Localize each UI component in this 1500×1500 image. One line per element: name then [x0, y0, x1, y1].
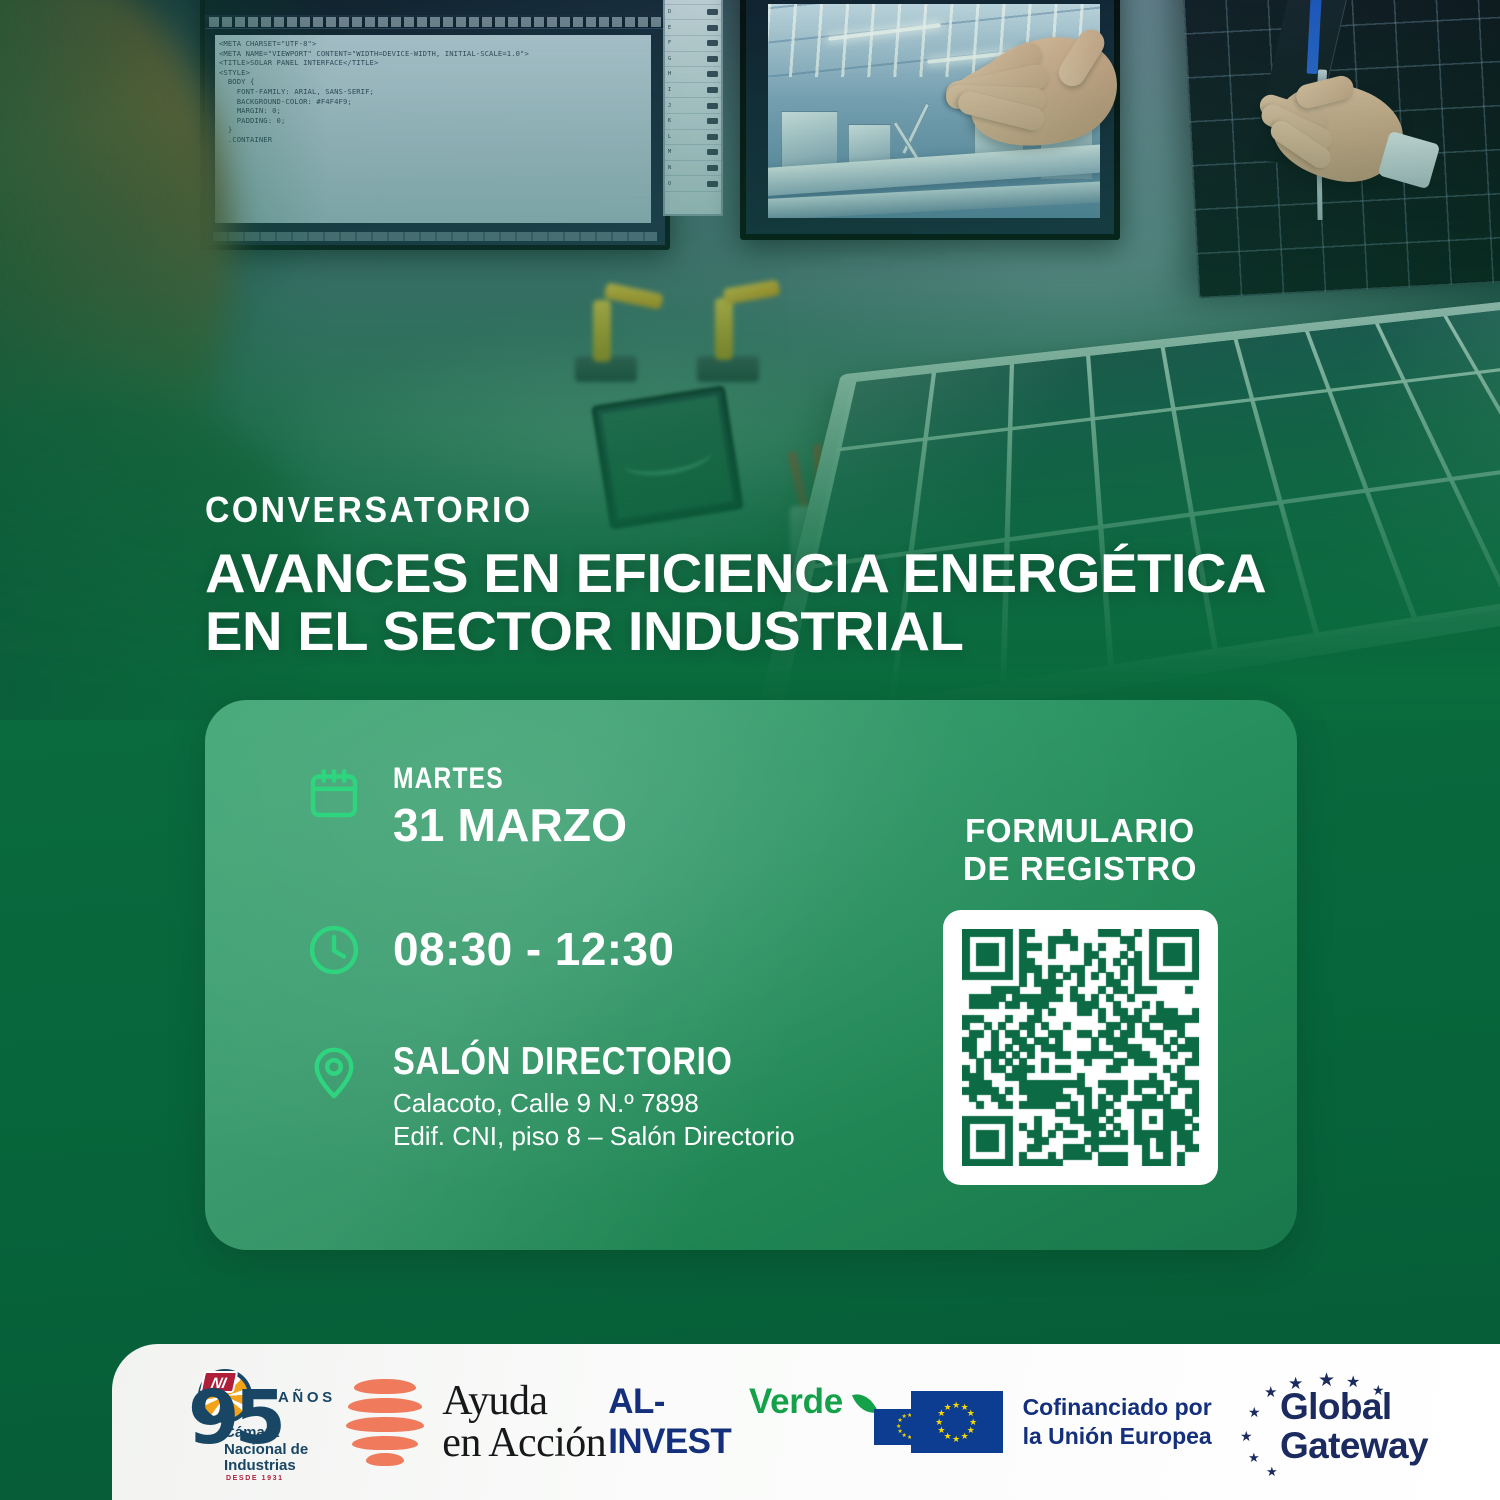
- clock-icon: [303, 918, 365, 978]
- time-text: 08:30 - 12:30: [393, 918, 674, 972]
- star: ★: [961, 1432, 969, 1441]
- global-gateway-wordmark: Global Gateway: [1280, 1387, 1428, 1465]
- venue-name: SALÓN DIRECTORIO: [393, 1042, 733, 1081]
- location-pin-icon: [303, 1040, 365, 1100]
- stripe: [354, 1379, 416, 1394]
- detail-row-location: SALÓN DIRECTORIO Calacoto, Calle 9 N.º 7…: [303, 1040, 863, 1153]
- venue-address-line-2: Edif. CNI, piso 8 – Salón Directorio: [393, 1120, 797, 1153]
- global-gateway-line-1: Global: [1280, 1387, 1428, 1426]
- star: ★: [935, 1418, 943, 1427]
- star: ★: [896, 1424, 901, 1430]
- qr-code[interactable]: [962, 929, 1199, 1166]
- eu-funding-text: Cofinanciado por la Unión Europea: [1023, 1393, 1212, 1451]
- event-title: AVANCES EN EFICIENCIA ENERGÉTICA EN EL S…: [205, 544, 1266, 660]
- logo-al-invest-verde: AL-INVEST Verde ★★★★★★★★★★★★: [608, 1382, 908, 1462]
- detail-row-date: MARTES 31 MARZO: [303, 762, 863, 850]
- qr-title-line-2: DE REGISTRO: [935, 850, 1225, 888]
- star: ★: [1240, 1429, 1253, 1443]
- star: ★: [937, 1426, 945, 1435]
- cni-name-line-1: Cámara: [224, 1425, 308, 1442]
- stripe: [346, 1417, 424, 1432]
- venue-address: Calacoto, Calle 9 N.º 7898 Edif. CNI, pi…: [393, 1087, 797, 1153]
- time-range: 08:30 - 12:30: [393, 926, 674, 972]
- logo-ayuda-en-accion: Ayuda en Acción: [344, 1377, 606, 1467]
- ayuda-mark-icon: [344, 1377, 426, 1467]
- cni-name: Cámara Nacional de Industrias: [224, 1425, 308, 1475]
- event-title-line-1: AVANCES EN EFICIENCIA ENERGÉTICA: [205, 544, 1266, 602]
- logo-global-gateway: ★★★★★★★★★ Global Gateway: [1214, 1371, 1444, 1473]
- star: ★: [901, 1414, 906, 1420]
- event-poster: <META CHARSET="UTF-8"> <META NAME="VIEWP…: [0, 0, 1500, 1500]
- star: ★: [952, 1435, 960, 1444]
- detail-row-time: 08:30 - 12:30: [303, 918, 863, 978]
- eu-funding-line-2: la Unión Europea: [1023, 1422, 1212, 1451]
- event-info-card: MARTES 31 MARZO 08:30 - 12:30: [205, 700, 1297, 1250]
- stripe: [366, 1453, 404, 1466]
- al-invest-wordmark: AL-INVEST Verde: [608, 1382, 874, 1462]
- stripe: [348, 1398, 422, 1413]
- event-details-list: MARTES 31 MARZO 08:30 - 12:30: [303, 762, 863, 1153]
- qr-frame[interactable]: [943, 910, 1218, 1185]
- star: ★: [1264, 1385, 1277, 1400]
- star: ★: [1248, 1451, 1260, 1464]
- cni-name-line-3: Industrias: [224, 1458, 308, 1475]
- eu-flag-icon: ★★★★★★★★★★★★: [911, 1391, 1003, 1453]
- al-invest-verde: Verde: [749, 1382, 843, 1422]
- ayuda-line-1: Ayuda: [442, 1380, 606, 1422]
- eu-funding-line-1: Cofinanciado por: [1023, 1393, 1212, 1422]
- cni-name-line-2: Nacional de: [224, 1442, 308, 1459]
- cni-since: DESDE 1931: [226, 1475, 284, 1482]
- star: ★: [897, 1429, 902, 1435]
- logo-cofinanciado-union-europea: ★★★★★★★★★★★★ Cofinanciado por la Unión E…: [911, 1391, 1212, 1453]
- registration-qr-block: FORMULARIO DE REGISTRO: [935, 812, 1225, 1185]
- star: ★: [1266, 1465, 1278, 1478]
- global-gateway-line-2: Gateway: [1280, 1426, 1428, 1465]
- logo-camara-nacional-de-industrias: NI 95 AÑOS Cámara Nacional de Industrias…: [174, 1367, 342, 1477]
- event-kicker: CONVERSATORIO: [205, 492, 1183, 528]
- event-title-line-2: EN EL SECTOR INDUSTRIAL: [205, 602, 1266, 660]
- sponsor-footer: NI 95 AÑOS Cámara Nacional de Industrias…: [112, 1344, 1500, 1500]
- qr-title: FORMULARIO DE REGISTRO: [935, 812, 1225, 888]
- date-text: MARTES 31 MARZO: [393, 762, 627, 850]
- qr-title-line-1: FORMULARIO: [935, 812, 1225, 850]
- star: ★: [952, 1401, 960, 1410]
- date-day-month: 31 MARZO: [393, 801, 627, 850]
- stripe: [352, 1436, 418, 1450]
- star: ★: [944, 1403, 952, 1412]
- date-weekday: MARTES: [393, 764, 585, 794]
- location-text: SALÓN DIRECTORIO Calacoto, Calle 9 N.º 7…: [393, 1040, 797, 1153]
- star: ★: [1248, 1405, 1261, 1419]
- calendar-icon: [303, 762, 365, 822]
- ayuda-wordmark: Ayuda en Acción: [442, 1380, 606, 1464]
- ayuda-line-2: en Acción: [442, 1422, 606, 1464]
- al-invest-name: AL-INVEST: [608, 1382, 738, 1462]
- cni-anniversary-word: AÑOS: [278, 1389, 336, 1406]
- headline-block: CONVERSATORIO AVANCES EN EFICIENCIA ENER…: [205, 492, 1245, 660]
- venue-address-line-1: Calacoto, Calle 9 N.º 7898: [393, 1087, 797, 1120]
